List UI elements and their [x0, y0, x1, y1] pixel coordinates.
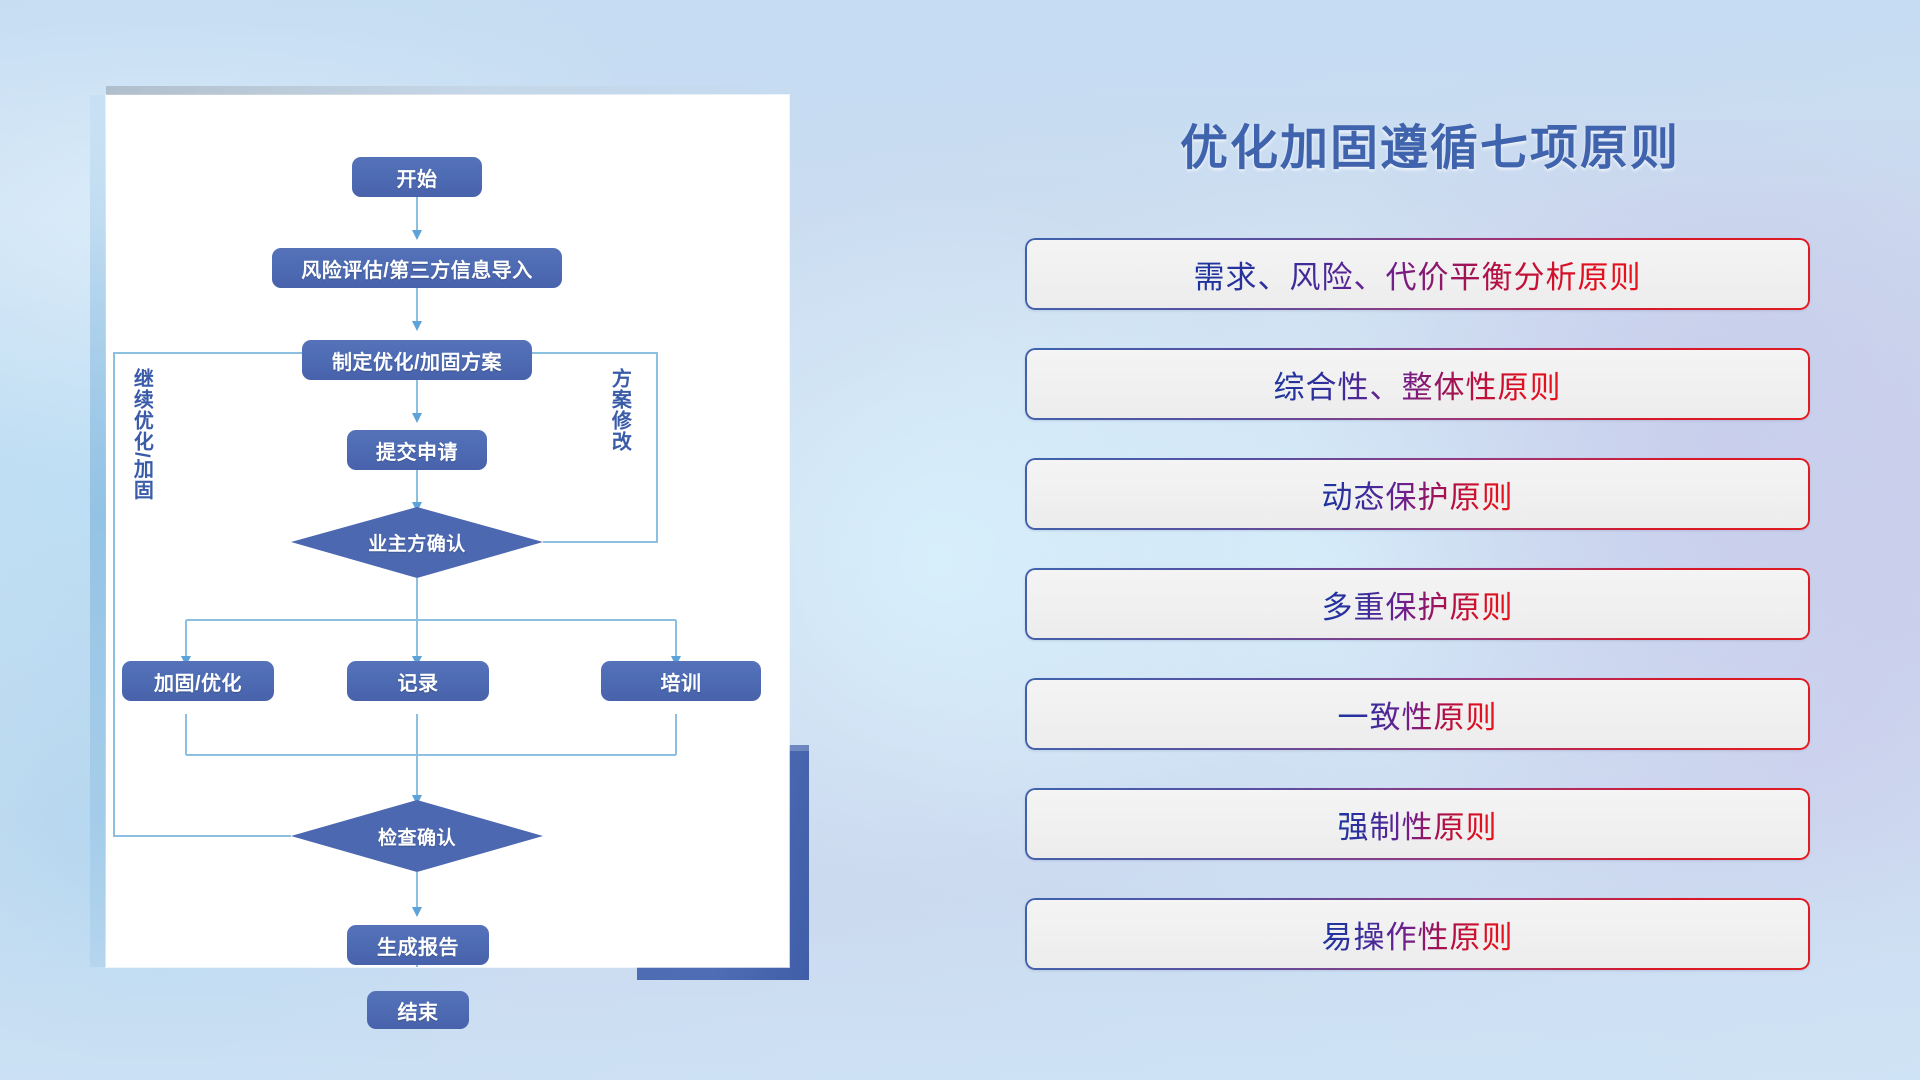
principle-card-3[interactable]: 动态保护原则	[1025, 458, 1810, 530]
edge-label-plan-revision: 方案修改	[609, 368, 629, 452]
decision-check-confirm-shape	[291, 800, 543, 872]
flowchart-connectors	[106, 95, 789, 967]
node-training-label: 培训	[661, 667, 702, 696]
node-generate-report[interactable]: 生成报告	[347, 925, 489, 965]
node-record[interactable]: 记录	[347, 661, 489, 701]
node-start[interactable]: 开始	[352, 157, 482, 197]
node-submit-application[interactable]: 提交申请	[347, 430, 487, 470]
principle-card-5[interactable]: 一致性原则	[1025, 678, 1810, 750]
node-reinforce-optimize-label: 加固/优化	[154, 667, 242, 696]
decision-owner-confirm-shape	[291, 507, 543, 578]
page-title: 优化加固遵循七项原则	[1020, 108, 1840, 178]
node-training[interactable]: 培训	[601, 661, 761, 701]
flowchart-card: 开始 风险评估/第三方信息导入 制定优化/加固方案 提交申请 业主方确认 加固/…	[106, 95, 789, 967]
principle-card-2[interactable]: 综合性、整体性原则	[1025, 348, 1810, 420]
principle-card-1[interactable]: 需求、风险、代价平衡分析原则	[1025, 238, 1810, 310]
node-risk-assessment-label: 风险评估/第三方信息导入	[301, 254, 533, 283]
node-submit-application-label: 提交申请	[376, 436, 458, 465]
principle-card-4-label: 多重保护原则	[1322, 582, 1514, 627]
principles-panel: 优化加固遵循七项原则 需求、风险、代价平衡分析原则 综合性、整体性原则 动态保护…	[1020, 0, 1920, 1080]
principle-card-4[interactable]: 多重保护原则	[1025, 568, 1810, 640]
node-start-label: 开始	[397, 163, 438, 192]
node-risk-assessment[interactable]: 风险评估/第三方信息导入	[272, 248, 562, 288]
principle-card-3-label: 动态保护原则	[1322, 472, 1514, 517]
principle-card-7[interactable]: 易操作性原则	[1025, 898, 1810, 970]
node-end[interactable]: 结束	[367, 991, 469, 1029]
slide-canvas: 开始 风险评估/第三方信息导入 制定优化/加固方案 提交申请 业主方确认 加固/…	[0, 0, 1920, 1080]
node-make-plan[interactable]: 制定优化/加固方案	[302, 340, 532, 380]
edge-label-continue-optimize: 继续优化/加固	[131, 368, 151, 501]
node-generate-report-label: 生成报告	[377, 931, 459, 960]
node-end-label: 结束	[398, 996, 439, 1025]
principle-card-7-label: 易操作性原则	[1322, 912, 1514, 957]
node-reinforce-optimize[interactable]: 加固/优化	[122, 661, 274, 701]
node-record-label: 记录	[398, 667, 439, 696]
principle-card-6[interactable]: 强制性原则	[1025, 788, 1810, 860]
principle-card-1-label: 需求、风险、代价平衡分析原则	[1194, 252, 1642, 297]
principle-card-6-label: 强制性原则	[1338, 802, 1498, 847]
principle-card-5-label: 一致性原则	[1338, 692, 1498, 737]
principle-card-2-label: 综合性、整体性原则	[1274, 362, 1562, 407]
node-make-plan-label: 制定优化/加固方案	[332, 346, 502, 375]
